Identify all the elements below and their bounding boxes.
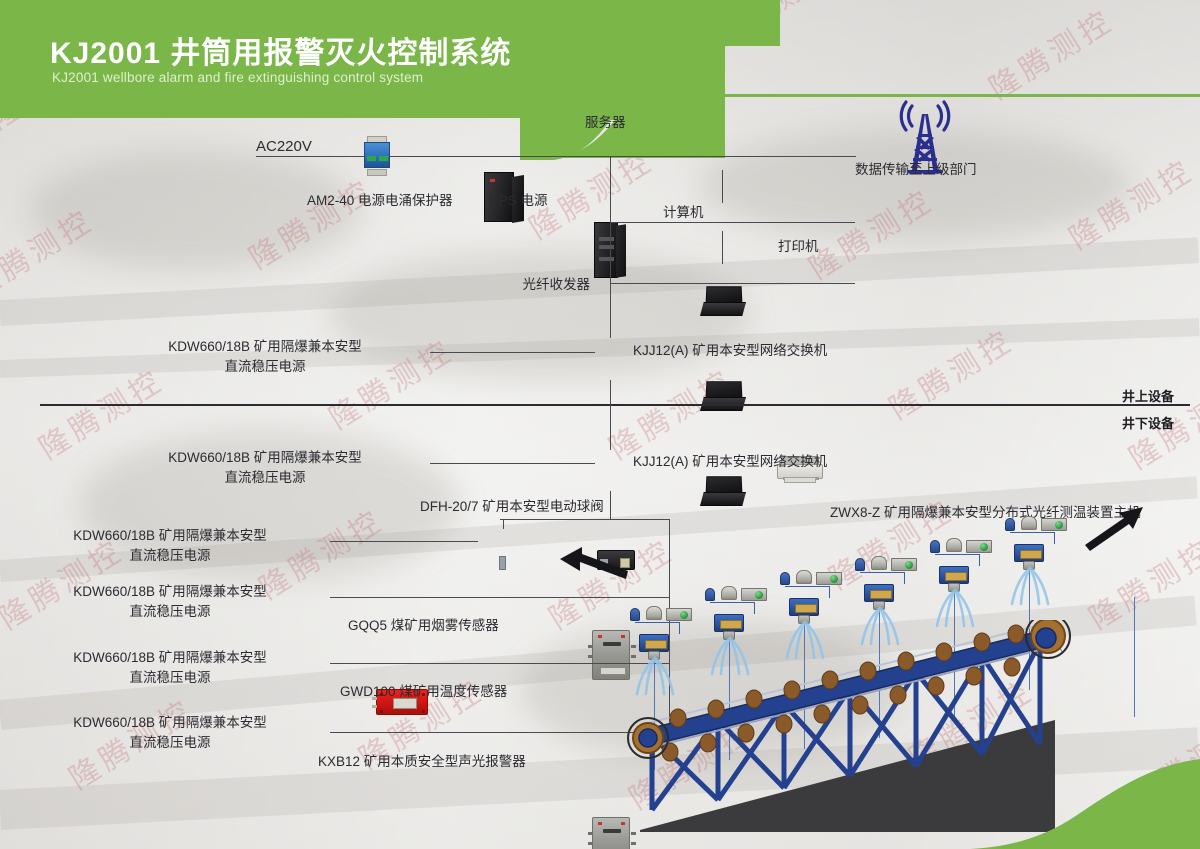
power-supply-link-2 [430, 463, 595, 464]
power-supply-label: KDW660/18B 矿用隔爆兼本安型 直流稳压电源 [70, 582, 270, 623]
watermark-text: 隆腾测控 [879, 316, 1021, 428]
power-supply-label-line2: 直流稳压电源 [70, 546, 270, 566]
computer-bus-3 [610, 283, 855, 284]
network-switch-underground-label: KJJ12(A) 矿用本安型网络交换机 [633, 452, 827, 472]
ac220v-label: AC220V [256, 136, 312, 158]
sp-smoke-sensor [646, 606, 662, 620]
server-label: 服务器 [585, 113, 626, 133]
watermark-text: 隆腾测控 [799, 176, 941, 288]
network-switch-surface-label: KJJ12(A) 矿用本安型网络交换机 [633, 341, 827, 361]
ball-valve-feed [503, 519, 504, 529]
ball-valve-stem [499, 556, 506, 570]
diagram-page: 隆腾测控 隆腾测控 隆腾测控 隆腾测控 隆腾测控 隆腾测控 隆腾测控 隆腾测控 … [0, 0, 1200, 849]
watermark-text: 隆腾测控 [979, 0, 1121, 108]
underground-trunk-down [610, 491, 611, 519]
ball-valve-label: DFH-20/7 矿用本安型电动球阀 [420, 497, 604, 517]
power-supply-label-line1: KDW660/18B 矿用隔爆兼本安型 [165, 448, 365, 468]
power-supply-label-line1: KDW660/18B 矿用隔爆兼本安型 [70, 526, 270, 546]
watermark-text: 隆腾测控 [29, 356, 171, 468]
watermark-text: 隆腾测控 [0, 196, 101, 308]
printer-label: 打印机 [778, 237, 819, 257]
computer-device [700, 381, 746, 415]
temp-sensor-label: GWD100 煤矿用温度传感器 [340, 682, 507, 702]
power-supply-label: KDW660/18B 矿用隔爆兼本安型 直流稳压电源 [70, 648, 270, 689]
smoke-sensor-bus [430, 597, 670, 598]
computer-label: 计算机 [663, 203, 704, 223]
surge-protector-label: AM2-40 电源电涌保护器 [307, 191, 453, 211]
callout-arrow-left [560, 545, 630, 590]
power-supply-label-line2: 直流稳压电源 [70, 668, 270, 688]
printer-link [744, 222, 780, 223]
power-supply-label-line2: 直流稳压电源 [165, 468, 365, 488]
surge-protector-device [364, 136, 390, 176]
computer-link-1 [722, 170, 723, 203]
fiber-transceiver-label: 光纤收发器 [490, 275, 590, 295]
callout-arrow-right [1085, 505, 1145, 556]
computer-bus-2 [610, 222, 855, 223]
computer-link-2 [722, 231, 723, 264]
power-supply-label: KDW660/18B 矿用隔爆兼本安型 直流稳压电源 [165, 448, 365, 489]
underground-branch-bus [500, 519, 670, 520]
page-title: KJ2001 井筒用报警灭火控制系统 [50, 28, 511, 72]
power-supply-label-line1: KDW660/18B 矿用隔爆兼本安型 [70, 648, 270, 668]
power-supply-label: KDW660/18B 矿用隔爆兼本安型 直流稳压电源 [70, 526, 270, 567]
computer-device [700, 476, 746, 510]
above-ground-label: 井上设备 [1122, 386, 1174, 405]
power-supply-label-line1: KDW660/18B 矿用隔爆兼本安型 [165, 337, 365, 357]
page-subtitle: KJ2001 wellbore alarm and fire extinguis… [52, 70, 423, 85]
watermark-text: 隆腾测控 [249, 496, 391, 608]
header-rule [700, 94, 1200, 97]
power-supply-label: KDW660/18B 矿用隔爆兼本安型 直流稳压电源 [70, 713, 270, 754]
ups-label: UPS 电源 [489, 191, 548, 211]
watermark-text: 隆腾测控 [239, 166, 381, 278]
power-supply-label: KDW660/18B 矿用隔爆兼本安型 直流稳压电源 [165, 337, 365, 378]
alarm-label: KXB12 矿用本质安全型声光报警器 [318, 752, 526, 772]
ground-level-divider [40, 404, 1190, 406]
power-supply-label-line2: 直流稳压电源 [70, 733, 270, 753]
power-supply-label-line2: 直流稳压电源 [70, 602, 270, 622]
wall-alarm-droplink [1134, 597, 1135, 717]
below-ground-label: 井下设备 [1122, 413, 1174, 432]
power-supply-label-line1: KDW660/18B 矿用隔爆兼本安型 [70, 713, 270, 733]
watermark-text: 隆腾测控 [1059, 146, 1200, 258]
power-supply-label-line2: 直流稳压电源 [165, 357, 365, 377]
power-supply-label-line1: KDW660/18B 矿用隔爆兼本安型 [70, 582, 270, 602]
surface-to-underground-trunk [610, 380, 611, 450]
power-supply-link-1 [430, 352, 595, 353]
uplink-label: 数据传输至上级部门 [855, 160, 977, 180]
power-supply-link-3 [330, 541, 478, 542]
smoke-sensor-label: GQQ5 煤矿用烟雾传感器 [348, 616, 499, 636]
server-trunk-line [610, 156, 611, 338]
footer-curve-decoration [970, 759, 1200, 849]
computer-device [700, 286, 746, 320]
header-curve-decoration [520, 0, 780, 160]
